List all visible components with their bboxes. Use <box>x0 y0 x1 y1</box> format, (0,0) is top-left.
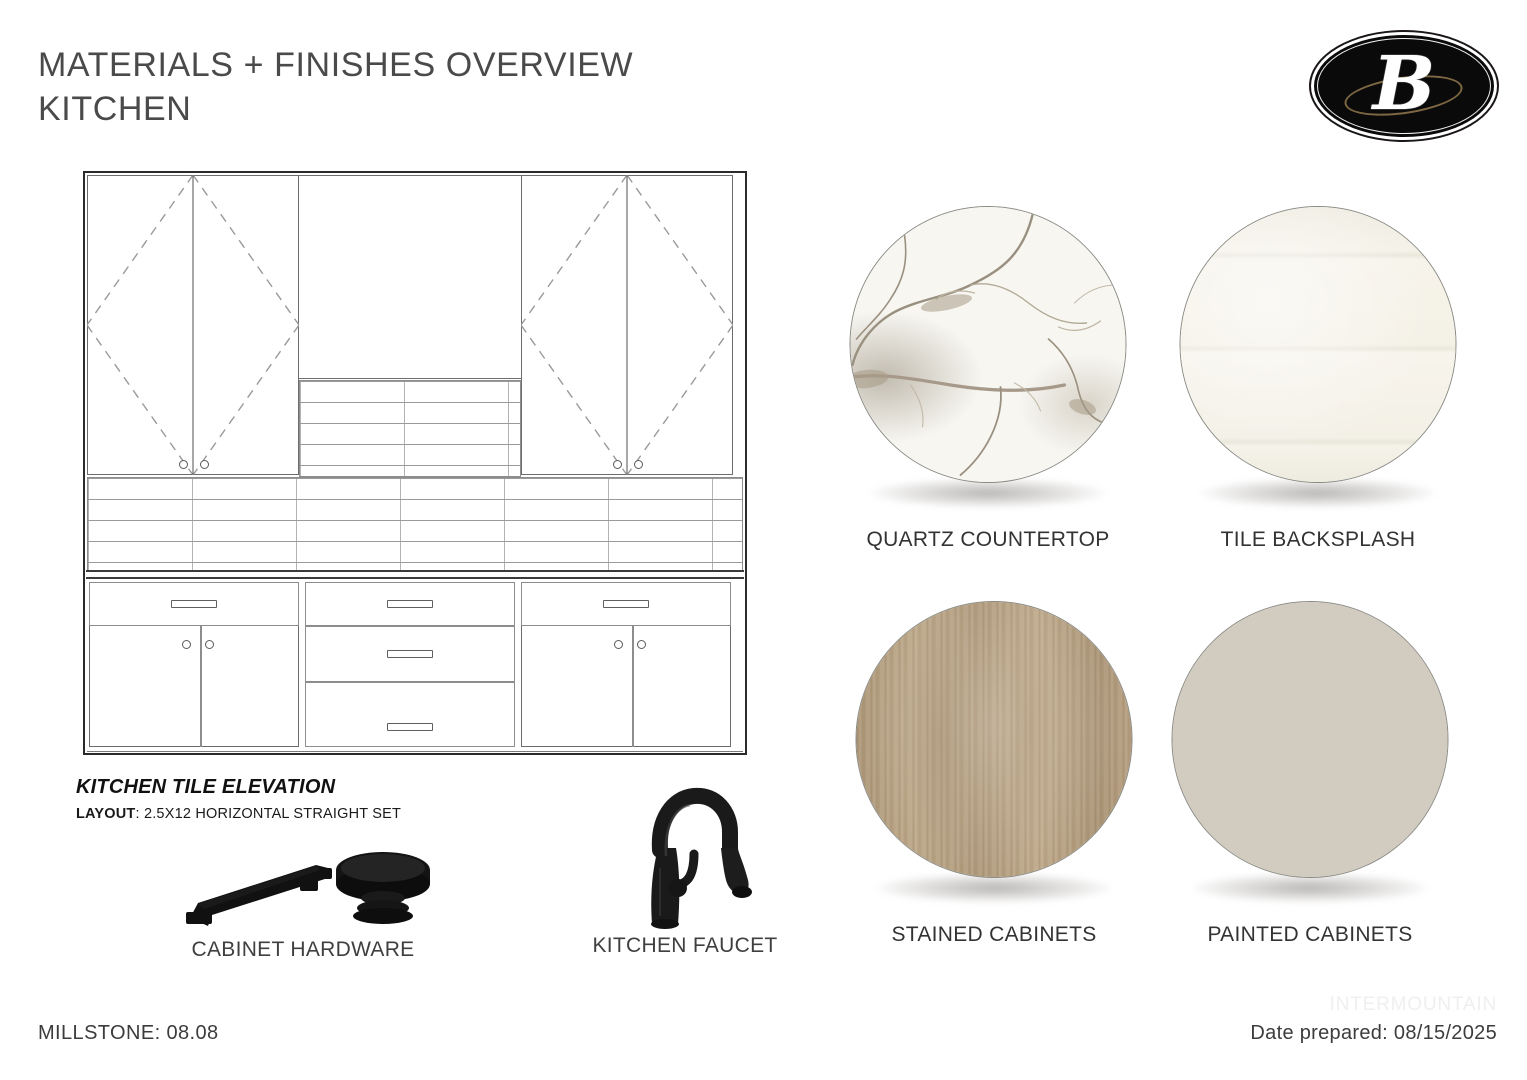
tile-field-backsplash-band <box>87 477 743 572</box>
base-right-knob-b <box>637 640 646 649</box>
kitchen-tile-elevation-drawing <box>83 171 747 755</box>
base-left-drawer-pull <box>171 600 217 608</box>
painted-cabinets-label: PAINTED CABINETS <box>1207 923 1412 947</box>
page-title-line-2: KITCHEN <box>38 88 633 132</box>
project-code: MILLSTONE: 08.08 <box>38 1022 219 1045</box>
swatch-painted-cabinets[interactable]: PAINTED CABINETS <box>1160 601 1460 971</box>
kitchen-faucet-label: KITCHEN FAUCET <box>590 934 780 958</box>
stained-cabinets-label: STAINED CABINETS <box>891 923 1096 947</box>
swatch-quartz-countertop[interactable]: QUARTZ COUNTERTOP <box>838 206 1138 576</box>
quartz-countertop-label: QUARTZ COUNTERTOP <box>866 528 1109 552</box>
page-title-line-1: MATERIALS + FINISHES OVERVIEW <box>38 44 633 88</box>
base-left-knob-b <box>205 640 214 649</box>
tile-material-fill <box>1181 207 1456 482</box>
quartz-veining-icon <box>851 207 1127 483</box>
layout-value: : 2.5X12 HORIZONTAL STRAIGHT SET <box>135 806 401 822</box>
tile-field-center-upper <box>299 380 521 477</box>
swatch-stained-cabinets[interactable]: STAINED CABINETS <box>844 601 1144 971</box>
upper-right-knob-b <box>634 460 643 469</box>
cabinet-pull-and-knob-icon <box>168 846 438 938</box>
layout-label: LAYOUT <box>76 806 135 822</box>
base-right-door-divider <box>632 626 634 747</box>
quartz-swatch-disc <box>850 206 1127 483</box>
elevation-caption-title: KITCHEN TILE ELEVATION <box>76 776 401 799</box>
cabinet-hardware-group: CABINET HARDWARE <box>168 846 438 966</box>
upper-center-opening <box>299 175 521 379</box>
upper-left-knob-b <box>200 460 209 469</box>
base-left-door-divider <box>200 626 202 747</box>
toe-kick-base <box>87 751 743 752</box>
page-title: MATERIALS + FINISHES OVERVIEW KITCHEN <box>38 44 633 131</box>
door-swing-right-icon <box>521 175 733 475</box>
base-center-drawer-top-pull <box>387 600 433 608</box>
painted-swatch-disc <box>1172 601 1449 878</box>
cabinet-hardware-label: CABINET HARDWARE <box>168 938 438 962</box>
elevation-caption-sub: LAYOUT: 2.5X12 HORIZONTAL STRAIGHT SET <box>76 806 401 822</box>
swatch-tile-backsplash[interactable]: TILE BACKSPLASH <box>1168 206 1468 576</box>
intermountain-watermark: INTERMOUNTAIN <box>1330 994 1497 1016</box>
materials-finishes-sheet: MATERIALS + FINISHES OVERVIEW KITCHEN B <box>0 0 1527 1080</box>
painted-material-fill <box>1173 602 1448 877</box>
tile-backsplash-label: TILE BACKSPLASH <box>1221 528 1416 552</box>
material-swatch-grid: QUARTZ COUNTERTOP TILE BACKSPLASH STAINE… <box>838 206 1498 976</box>
door-swing-left-icon <box>87 175 299 475</box>
logo-letter: B <box>1311 32 1497 140</box>
base-right-knob-a <box>614 640 623 649</box>
base-center-drawer-mid-pull <box>387 650 433 658</box>
stained-wood-material-fill <box>857 602 1132 877</box>
stained-swatch-disc <box>856 601 1133 878</box>
upper-right-knob-a <box>613 460 622 469</box>
upper-left-knob-a <box>179 460 188 469</box>
elevation-caption: KITCHEN TILE ELEVATION LAYOUT: 2.5X12 HO… <box>76 776 401 822</box>
base-right-drawer-pull <box>603 600 649 608</box>
quartz-material-fill <box>851 207 1126 482</box>
base-left-knob-a <box>182 640 191 649</box>
kitchen-faucet-icon <box>590 776 780 934</box>
date-prepared: Date prepared: 08/15/2025 <box>1250 1022 1497 1045</box>
kitchen-faucet-group: KITCHEN FAUCET <box>590 776 780 966</box>
brand-logo: B <box>1311 32 1497 140</box>
base-center-drawer-bottom-pull <box>387 723 433 731</box>
countertop-slab <box>86 570 744 579</box>
tile-swatch-disc <box>1180 206 1457 483</box>
base-center-drawer-bottom <box>305 682 515 747</box>
